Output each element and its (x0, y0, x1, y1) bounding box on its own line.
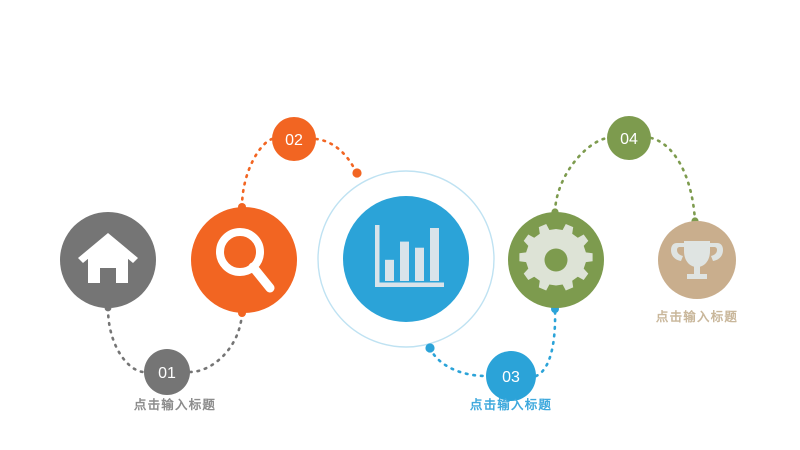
badge-04[interactable]: 04 (607, 116, 651, 160)
badge-01-number: 01 (158, 365, 176, 382)
label-04[interactable]: 点击输入标题 (656, 306, 738, 325)
connector-02-to-chart (316, 139, 356, 172)
node-gear[interactable] (508, 212, 604, 308)
badge-02-number: 02 (285, 132, 303, 149)
connector-search-to-02 (242, 139, 272, 207)
badge-03-number: 03 (502, 369, 520, 386)
label-03[interactable]: 点击输入标题 (470, 394, 552, 413)
node-search[interactable] (191, 207, 297, 313)
badge-01[interactable]: 01 (144, 349, 190, 395)
badge-04-number: 04 (620, 131, 638, 148)
node-search-circle[interactable] (191, 207, 297, 313)
badge-02[interactable]: 02 (272, 117, 316, 161)
connector-03-to-gear (536, 309, 555, 376)
endpoint-dot-chart-bottom (425, 343, 434, 352)
endpoint-dot-chart-top (352, 168, 361, 177)
connector-gear-to-04 (555, 138, 607, 212)
connector-chart-to-03 (430, 348, 486, 376)
connector-home-to-01 (108, 308, 144, 372)
label-01[interactable]: 点击输入标题 (134, 394, 216, 413)
infographic-slide: 01 02 03 04 点击输入标题 点击输入标题 点击输入标题 (0, 0, 800, 450)
node-chart[interactable] (343, 196, 469, 322)
node-home[interactable] (60, 212, 156, 308)
connector-01-to-search (190, 313, 242, 372)
connector-04-to-trophy (651, 138, 695, 221)
node-trophy[interactable] (658, 221, 736, 299)
infographic-canvas: 01 02 03 04 (0, 0, 800, 450)
